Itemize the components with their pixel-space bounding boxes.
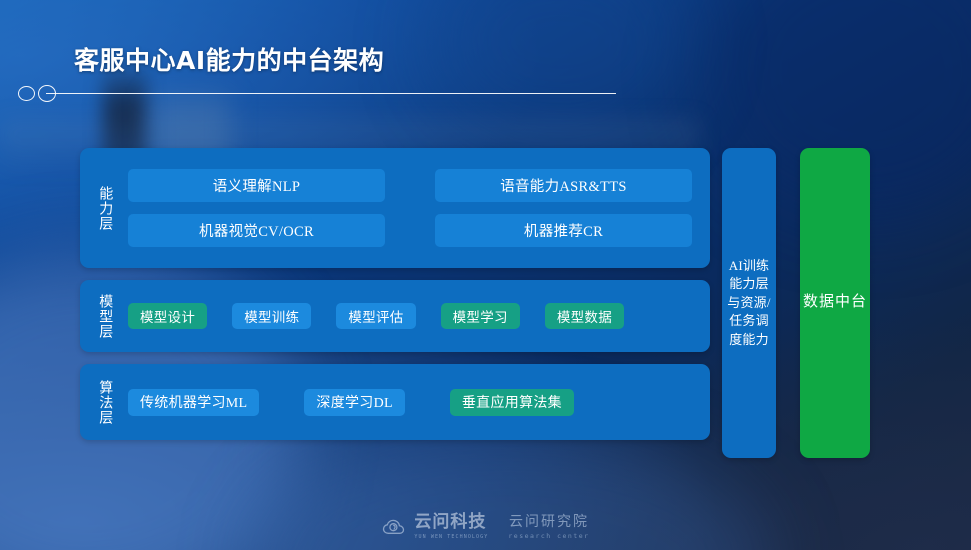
- algorithm-item-deep-learning[interactable]: 深度学习DL: [304, 389, 404, 416]
- layer-algorithm[interactable]: 算法层 传统机器学习ML 深度学习DL 垂直应用算法集: [80, 364, 710, 440]
- capability-item-cr[interactable]: 机器推荐CR: [435, 214, 692, 247]
- model-item-learning[interactable]: 模型学习: [441, 303, 520, 329]
- side-column-data-platform[interactable]: 数据中台: [800, 148, 870, 458]
- capability-item-asr-tts[interactable]: 语音能力ASR&TTS: [435, 169, 692, 202]
- research-unit-en: research center: [508, 532, 589, 540]
- model-item-training[interactable]: 模型训练: [232, 303, 311, 329]
- company-name-en: YUN WEN TECHNOLOGY: [414, 534, 488, 540]
- background-glow-top-center: [430, 0, 690, 140]
- model-item-data[interactable]: 模型数据: [545, 303, 624, 329]
- footer-branding: 云问科技 YUN WEN TECHNOLOGY 云问研究院 research c…: [0, 514, 971, 540]
- model-item-evaluation[interactable]: 模型评估: [336, 303, 415, 329]
- layer-capability-items: 语义理解NLP 语音能力ASR&TTS 机器视觉CV/OCR 机器推荐CR: [128, 169, 710, 247]
- architecture-layer-stack: 能力层 语义理解NLP 语音能力ASR&TTS 机器视觉CV/OCR 机器推荐C…: [80, 148, 710, 440]
- company-name-group: 云问科技 YUN WEN TECHNOLOGY: [414, 514, 488, 540]
- layer-algorithm-label: 算法层: [80, 380, 128, 425]
- model-item-design[interactable]: 模型设计: [128, 303, 207, 329]
- layer-capability-label: 能力层: [80, 186, 128, 231]
- company-logo: 云问科技 YUN WEN TECHNOLOGY: [381, 514, 488, 540]
- layer-capability[interactable]: 能力层 语义理解NLP 语音能力ASR&TTS 机器视觉CV/OCR 机器推荐C…: [80, 148, 710, 268]
- company-name-cn: 云问科技: [414, 514, 488, 532]
- layer-model[interactable]: 模型层 模型设计 模型训练 模型评估 模型学习 模型数据: [80, 280, 710, 352]
- layer-model-label: 模型层: [80, 294, 128, 339]
- research-unit-label: 云问研究院 research center: [508, 515, 589, 540]
- layer-algorithm-items: 传统机器学习ML 深度学习DL 垂直应用算法集: [128, 389, 710, 416]
- layer-model-items: 模型设计 模型训练 模型评估 模型学习 模型数据: [128, 303, 710, 329]
- title-underline-divider: [46, 93, 616, 94]
- capability-item-cv-ocr[interactable]: 机器视觉CV/OCR: [128, 214, 385, 247]
- capability-item-nlp[interactable]: 语义理解NLP: [128, 169, 385, 202]
- cloud-logo-icon: [381, 514, 407, 540]
- circle-decoration-small-icon: [18, 86, 35, 101]
- page-title: 客服中心AI能力的中台架构: [74, 41, 384, 77]
- algorithm-item-traditional-ml[interactable]: 传统机器学习ML: [128, 389, 259, 416]
- side-column-ai-training-label: AI训练能力层与资源/任务调度能力: [722, 257, 776, 349]
- slide-canvas: 客服中心AI能力的中台架构 能力层 语义理解NLP 语音能力ASR&TTS 机器…: [0, 0, 971, 550]
- research-unit-cn: 云问研究院: [509, 515, 589, 530]
- side-column-ai-training[interactable]: AI训练能力层与资源/任务调度能力: [722, 148, 776, 458]
- algorithm-item-vertical-algorithms[interactable]: 垂直应用算法集: [450, 389, 574, 416]
- side-column-data-platform-label: 数据中台: [803, 292, 867, 314]
